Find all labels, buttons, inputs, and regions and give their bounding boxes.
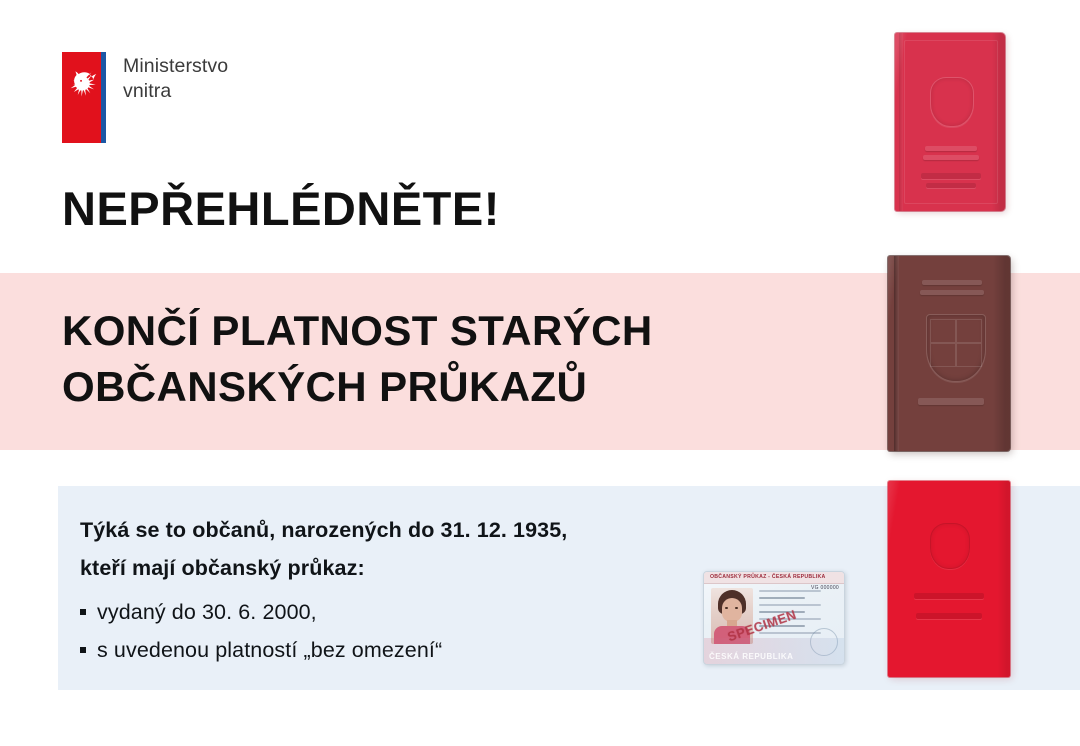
list-item-label: s uvedenou platností „bez omezení“ bbox=[97, 638, 442, 662]
embossed-text-line bbox=[923, 155, 979, 160]
info-bullet-list: vydaný do 30. 6. 2000, s uvedenou platno… bbox=[80, 593, 740, 669]
id-card-header-band: OBČANSKÝ PRŮKAZ - ČESKÁ REPUBLIKA bbox=[704, 572, 844, 584]
embossed-text-line bbox=[922, 280, 982, 285]
embossed-text-line bbox=[916, 613, 982, 619]
embossed-crest bbox=[930, 523, 970, 569]
id-card-header-text: OBČANSKÝ PRŮKAZ - ČESKÁ REPUBLIKA bbox=[710, 574, 825, 580]
blue-stripe bbox=[101, 52, 106, 143]
bullet-square-icon bbox=[80, 609, 86, 615]
portrait-eye-right bbox=[735, 607, 738, 609]
id-card-footer-text: ČESKÁ REPUBLIKA bbox=[709, 652, 793, 661]
embossed-text-line bbox=[926, 183, 976, 188]
info-lead-text: Týká se to občanů, narozených do 31. 12.… bbox=[80, 511, 740, 587]
red-id-booklet-image bbox=[888, 481, 1010, 677]
bullet-square-icon bbox=[80, 647, 86, 653]
list-item: vydaný do 30. 6. 2000, bbox=[80, 593, 740, 631]
embossed-text-line bbox=[914, 593, 984, 599]
id-card-specimen-image: OBČANSKÝ PRŮKAZ - ČESKÁ REPUBLIKA VG 000… bbox=[703, 571, 845, 665]
brown-id-booklet-image bbox=[888, 256, 1010, 451]
czech-flag-block bbox=[62, 52, 106, 143]
embossed-text-line bbox=[921, 173, 981, 179]
embossed-text-line bbox=[920, 290, 984, 295]
poster-root: Ministerstvo vnitra NEPŘEHLÉDNĚTE! KONČÍ… bbox=[0, 0, 1080, 746]
list-item: s uvedenou platností „bez omezení“ bbox=[80, 631, 740, 669]
alert-headline: NEPŘEHLÉDNĚTE! bbox=[62, 185, 500, 232]
ministry-logo: Ministerstvo vnitra bbox=[62, 52, 228, 143]
list-item-label: vydaný do 30. 6. 2000, bbox=[97, 600, 317, 624]
main-headline: KONČÍ PLATNOST STARÝCH OBČANSKÝCH PRŮKAZ… bbox=[62, 303, 653, 415]
ministry-name: Ministerstvo vnitra bbox=[123, 54, 228, 104]
embossed-crest bbox=[930, 77, 974, 127]
embossed-text-line bbox=[918, 398, 984, 405]
embossed-coat-of-arms bbox=[926, 314, 986, 382]
embossed-text-line bbox=[925, 146, 977, 151]
czech-lion-icon bbox=[66, 66, 102, 104]
info-box-content: Týká se to občanů, narozených do 31. 12.… bbox=[80, 511, 740, 669]
crimson-id-booklet-image bbox=[895, 33, 1005, 211]
portrait-eye-left bbox=[725, 607, 728, 609]
portrait-face bbox=[722, 598, 742, 622]
